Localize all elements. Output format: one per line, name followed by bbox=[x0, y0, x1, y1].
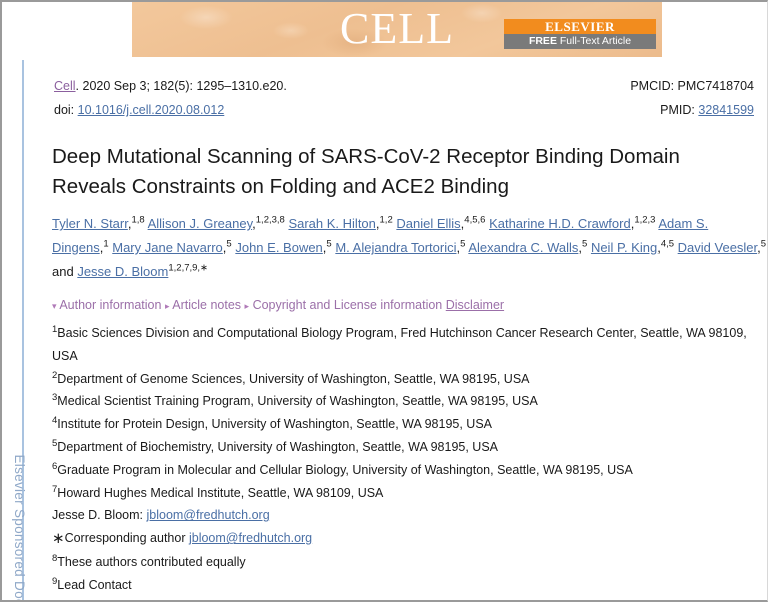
page-title: Deep Mutational Scanning of SARS-CoV-2 R… bbox=[52, 142, 752, 202]
affiliation-item: 6Graduate Program in Molecular and Cellu… bbox=[52, 459, 768, 482]
affiliation-text: Department of Genome Sciences, Universit… bbox=[57, 372, 529, 386]
contact-email-line: Jesse D. Bloom: jbloom@fredhutch.org bbox=[52, 504, 768, 527]
author-affiliation-marker: 5 bbox=[582, 239, 587, 250]
affiliation-text: Graduate Program in Molecular and Cellul… bbox=[57, 463, 633, 477]
author-affiliation-marker: 4,5 bbox=[661, 239, 674, 250]
equal-contribution-note: 8These authors contributed equally bbox=[52, 551, 768, 574]
sponsor-rail: Elsevier Sponsored Documents Elsevier Sp bbox=[2, 2, 36, 602]
pmid-line: PMID: 32841599 bbox=[660, 98, 754, 122]
author-link-corresponding[interactable]: Jesse D. Bloom bbox=[77, 264, 168, 279]
citation-row-secondary: doi: 10.1016/j.cell.2020.08.012 PMID: 32… bbox=[54, 98, 754, 122]
doi-label: doi: bbox=[54, 103, 78, 117]
author-link[interactable]: John E. Bowen bbox=[235, 240, 322, 255]
affiliation-item: 5Department of Biochemistry, University … bbox=[52, 436, 768, 459]
affiliation-item: 7Howard Hughes Medical Institute, Seattl… bbox=[52, 482, 768, 505]
author-link[interactable]: Sarah K. Hilton bbox=[288, 216, 375, 231]
affiliation-text: Basic Sciences Division and Computationa… bbox=[52, 326, 747, 363]
chevron-right-icon-copyright: ▸ bbox=[245, 301, 250, 311]
author-list: Tyler N. Starr,1,8 Allison J. Greaney,1,… bbox=[52, 212, 768, 284]
journal-link[interactable]: Cell bbox=[54, 79, 76, 93]
journal-logo-label: CELL bbox=[340, 4, 454, 53]
asterisk-icon: ∗ bbox=[52, 530, 65, 547]
author-link[interactable]: Neil P. King bbox=[591, 240, 657, 255]
journal-banner: CELL ELSEVIER FREE Full-Text Article bbox=[132, 2, 662, 57]
author-link[interactable]: David Veesler bbox=[678, 240, 758, 255]
author-link[interactable]: Katharine H.D. Crawford bbox=[489, 216, 631, 231]
chevron-right-icon-notes: ▸ bbox=[165, 301, 170, 311]
affiliation-text: Medical Scientist Training Program, Univ… bbox=[57, 394, 538, 408]
affiliation-text: Department of Biochemistry, University o… bbox=[57, 440, 498, 454]
corresponding-author-line: ∗Corresponding author jbloom@fredhutch.o… bbox=[52, 527, 768, 551]
author-affiliation-marker: 5 bbox=[761, 239, 766, 250]
elsevier-free-article-badge[interactable]: ELSEVIER FREE Full-Text Article bbox=[504, 19, 656, 49]
citation-source: Cell. 2020 Sep 3; 182(5): 1295–1310.e20. bbox=[54, 74, 287, 98]
author-link[interactable]: Tyler N. Starr bbox=[52, 216, 128, 231]
article-section-toggles: ▾ Author information ▸ Article notes ▸ C… bbox=[52, 296, 504, 315]
citation-row-primary: Cell. 2020 Sep 3; 182(5): 1295–1310.e20.… bbox=[54, 74, 754, 98]
rail-label-secondary: Elsevier Sp bbox=[8, 442, 30, 602]
affiliation-item: 1Basic Sciences Division and Computation… bbox=[52, 322, 768, 368]
contact-email-link[interactable]: jbloom@fredhutch.org bbox=[146, 508, 269, 522]
full-text-article-label: Full-Text Article bbox=[560, 35, 631, 47]
disclaimer-link[interactable]: Disclaimer bbox=[446, 298, 504, 312]
corresponding-email-link[interactable]: jbloom@fredhutch.org bbox=[189, 531, 312, 545]
affiliation-text: Institute for Protein Design, University… bbox=[57, 417, 492, 431]
affiliation-text: Howard Hughes Medical Institute, Seattle… bbox=[57, 486, 383, 500]
author-conjunction: and bbox=[52, 264, 77, 279]
lead-contact-text: Lead Contact bbox=[57, 578, 131, 592]
affiliation-item: 2Department of Genome Sciences, Universi… bbox=[52, 368, 768, 391]
equal-contribution-text: These authors contributed equally bbox=[57, 555, 245, 569]
citation-details: . 2020 Sep 3; 182(5): 1295–1310.e20. bbox=[76, 79, 287, 93]
copyright-license-toggle[interactable]: Copyright and License information bbox=[253, 298, 443, 312]
author-affiliation-marker: 1,8 bbox=[131, 215, 144, 226]
author-information-toggle[interactable]: Author information bbox=[59, 298, 161, 312]
author-affiliation-marker-corresponding: 1,2,7,9,∗ bbox=[168, 263, 208, 274]
affiliations-block: 1Basic Sciences Division and Computation… bbox=[52, 322, 768, 597]
author-affiliation-marker: 1 bbox=[103, 239, 108, 250]
free-full-text-label: FREE Full-Text Article bbox=[504, 34, 656, 49]
contact-name-label: Jesse D. Bloom: bbox=[52, 508, 146, 522]
author-link[interactable]: Mary Jane Navarro bbox=[112, 240, 223, 255]
affiliation-item: 4Institute for Protein Design, Universit… bbox=[52, 413, 768, 436]
elsevier-badge-label: ELSEVIER bbox=[504, 19, 656, 34]
pmid-link[interactable]: 32841599 bbox=[698, 103, 754, 117]
lead-contact-note: 9Lead Contact bbox=[52, 574, 768, 597]
author-affiliation-marker: 5 bbox=[326, 239, 331, 250]
pmid-label: PMID: bbox=[660, 103, 698, 117]
author-link[interactable]: Allison J. Greaney bbox=[148, 216, 253, 231]
corresponding-author-label: Corresponding author bbox=[65, 531, 189, 545]
author-link[interactable]: M. Alejandra Tortorici bbox=[335, 240, 456, 255]
free-label: FREE bbox=[529, 35, 557, 47]
author-affiliation-marker: 5 bbox=[226, 239, 231, 250]
author-link[interactable]: Alexandra C. Walls bbox=[468, 240, 578, 255]
chevron-down-icon: ▾ bbox=[52, 301, 57, 311]
article-notes-toggle[interactable]: Article notes bbox=[172, 298, 241, 312]
article-page: Elsevier Sponsored Documents Elsevier Sp… bbox=[0, 0, 768, 602]
author-affiliation-marker: 1,2,3 bbox=[634, 215, 655, 226]
doi-link[interactable]: 10.1016/j.cell.2020.08.012 bbox=[78, 103, 225, 117]
pmcid-label: PMCID: PMC7418704 bbox=[630, 79, 754, 93]
pmcid-line: PMCID: PMC7418704 bbox=[630, 74, 754, 98]
affiliation-item: 3Medical Scientist Training Program, Uni… bbox=[52, 390, 768, 413]
author-link[interactable]: Daniel Ellis bbox=[396, 216, 460, 231]
author-affiliation-marker: 4,5,6 bbox=[464, 215, 485, 226]
doi-line: doi: 10.1016/j.cell.2020.08.012 bbox=[54, 98, 224, 122]
author-affiliation-marker: 1,2 bbox=[380, 215, 393, 226]
author-affiliation-marker: 1,2,3,8 bbox=[256, 215, 285, 226]
author-affiliation-marker: 5 bbox=[460, 239, 465, 250]
